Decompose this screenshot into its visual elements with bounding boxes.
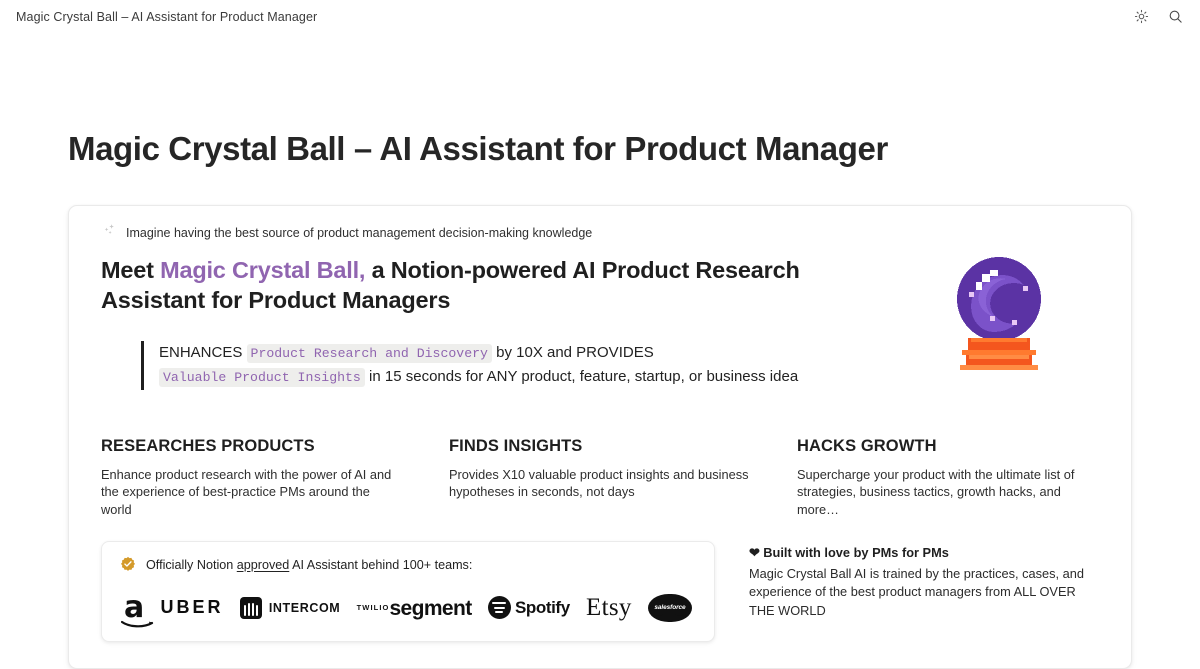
feature-body: Provides X10 valuable product insights a… (449, 466, 749, 501)
feature-finds-insights: FINDS INSIGHTS Provides X10 valuable pro… (449, 437, 797, 519)
page-body: Magic Crystal Ball – AI Assistant for Pr… (0, 33, 1200, 669)
approved-suffix: AI Assistant behind 100+ teams: (289, 558, 472, 572)
logo-uber: UBER (161, 597, 224, 618)
feature-body: Supercharge your product with the ultima… (797, 466, 1097, 519)
logo-segment-label: segment (389, 598, 471, 619)
headline-accent: Magic Crystal Ball, (160, 257, 365, 283)
quote-code-1: Product Research and Discovery (247, 344, 492, 363)
hero-headline: Meet Magic Crystal Ball, a Notion-powere… (101, 256, 801, 315)
topbar-actions (1130, 6, 1186, 28)
hero-left-column: Meet Magic Crystal Ball, a Notion-powere… (101, 244, 899, 404)
quote-code-2: Valuable Product Insights (159, 368, 365, 387)
logo-intercom: INTERCOM (240, 597, 340, 619)
quote-part-2: by 10X and PROVIDES (492, 344, 654, 361)
social-proof-box: Officially Notion approved AI Assistant … (101, 541, 715, 642)
logo-segment-twilio: TWILIO (357, 604, 390, 612)
topbar-title: Magic Crystal Ball – AI Assistant for Pr… (16, 10, 317, 24)
built-title: ❤ Built with love by PMs for PMs (749, 545, 1099, 561)
notion-approved-text: Officially Notion approved AI Assistant … (146, 558, 472, 572)
hero-card: Imagine having the best source of produc… (68, 205, 1132, 668)
features-row: RESEARCHES PRODUCTS Enhance product rese… (101, 437, 1099, 519)
browser-topbar: Magic Crystal Ball – AI Assistant for Pr… (0, 0, 1200, 33)
notion-approved-line: Officially Notion approved AI Assistant … (120, 556, 696, 575)
feature-hacks-growth: HACKS GROWTH Supercharge your product wi… (797, 437, 1125, 519)
quote-part-1: ENHANCES (159, 344, 247, 361)
built-with-love-block: ❤ Built with love by PMs for PMs Magic C… (715, 541, 1099, 621)
logo-intercom-label: INTERCOM (269, 601, 340, 615)
page-title: Magic Crystal Ball – AI Assistant for Pr… (68, 33, 1132, 169)
feature-body: Enhance product research with the power … (101, 466, 401, 519)
logo-salesforce: salesforce (648, 594, 692, 622)
logo-salesforce-label: salesforce (654, 604, 685, 611)
heart-icon: ❤ (749, 545, 760, 560)
approved-link[interactable]: approved (237, 558, 290, 572)
sun-icon[interactable] (1130, 6, 1152, 28)
feature-title: RESEARCHES PRODUCTS (101, 437, 421, 456)
hero-quote: ENHANCES Product Research and Discovery … (141, 341, 835, 390)
headline-before: Meet (101, 257, 160, 283)
logo-etsy: Etsy (586, 594, 632, 622)
sparkles-icon (101, 223, 117, 244)
quote-part-3: in 15 seconds for ANY product, feature, … (365, 368, 798, 385)
hero-row: Meet Magic Crystal Ball, a Notion-powere… (101, 244, 1099, 404)
verified-badge-icon (120, 556, 136, 575)
feature-researches-products: RESEARCHES PRODUCTS Enhance product rese… (101, 437, 449, 519)
logo-amazon: a (124, 593, 144, 623)
hero-right-column (899, 244, 1099, 377)
hero-eyebrow-text: Imagine having the best source of produc… (126, 226, 592, 240)
search-icon[interactable] (1164, 6, 1186, 28)
built-title-text: Built with love by PMs for PMs (763, 545, 949, 560)
feature-title: HACKS GROWTH (797, 437, 1097, 456)
logo-spotify-label: Spotify (515, 598, 570, 618)
feature-title: FINDS INSIGHTS (449, 437, 769, 456)
logo-segment: TWILIO segment (357, 597, 472, 619)
bottom-row: Officially Notion approved AI Assistant … (101, 541, 1099, 642)
hero-eyebrow: Imagine having the best source of produc… (101, 222, 1099, 244)
crystal-ball-icon (949, 254, 1049, 377)
logo-spotify: Spotify (488, 596, 570, 619)
intercom-mark-icon (240, 597, 262, 619)
spotify-mark-icon (488, 596, 511, 619)
customer-logos: a UBER INTERCOM TWILIO (120, 593, 696, 623)
built-body: Magic Crystal Ball AI is trained by the … (749, 565, 1094, 621)
approved-prefix: Officially Notion (146, 558, 237, 572)
